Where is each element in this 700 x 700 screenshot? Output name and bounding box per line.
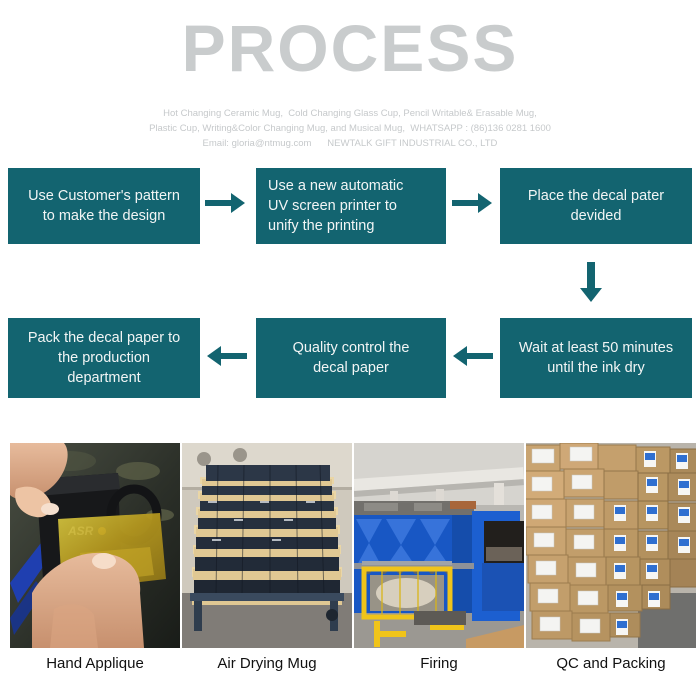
flow-step-label: Wait at least 50 minutes until the ink d… [512, 338, 680, 378]
flow-step-uv-screen-printer: Use a new automatic UV screen printer to… [256, 168, 446, 244]
photo-caption-qc-packing: QC and Packing [526, 655, 696, 672]
flow-step-label: Quality control the decal paper [268, 338, 434, 378]
contact-info-block: Hot Changing Ceramic Mug, Cold Changing … [0, 106, 700, 151]
photo-firing [354, 443, 524, 648]
flow-step-label: Use Customer's pattern to make the desig… [20, 186, 188, 226]
photo-caption-firing: Firing [354, 655, 524, 672]
photo-air-drying-mug [182, 443, 352, 648]
arrow-right-icon [452, 190, 492, 216]
photo-caption-air-drying-mug: Air Drying Mug [182, 655, 352, 672]
flow-step-use-customer-pattern: Use Customer's pattern to make the desig… [8, 168, 200, 244]
arrow-right-icon [205, 190, 245, 216]
photo-strip: ASR [0, 443, 700, 648]
flow-step-label: Place the decal pater devided [512, 186, 680, 226]
arrow-left-icon [453, 343, 493, 369]
photo-caption-hand-applique: Hand Applique [10, 655, 180, 672]
process-infographic: PROCESS Hot Changing Ceramic Mug, Cold C… [0, 0, 700, 700]
flow-step-label: Pack the decal paper to the production d… [20, 328, 188, 388]
contact-line-2: Plastic Cup, Writing&Color Changing Mug,… [0, 121, 700, 136]
photo-qc-packing [526, 443, 696, 648]
photo-hand-applique: ASR [10, 443, 180, 648]
arrow-down-icon [578, 262, 604, 302]
flow-step-place-decal-paper: Place the decal pater devided [500, 168, 692, 244]
flow-step-wait-ink-dry: Wait at least 50 minutes until the ink d… [500, 318, 692, 398]
contact-line-1: Hot Changing Ceramic Mug, Cold Changing … [0, 106, 700, 121]
flow-step-pack-decal-paper: Pack the decal paper to the production d… [8, 318, 200, 398]
contact-line-3: Email: gloria@ntmug.com NEWTALK GIFT IND… [0, 136, 700, 151]
flow-step-label: Use a new automatic UV screen printer to… [268, 176, 434, 236]
arrow-left-icon [207, 343, 247, 369]
flow-step-quality-control: Quality control the decal paper [256, 318, 446, 398]
page-title: PROCESS [0, 8, 700, 88]
